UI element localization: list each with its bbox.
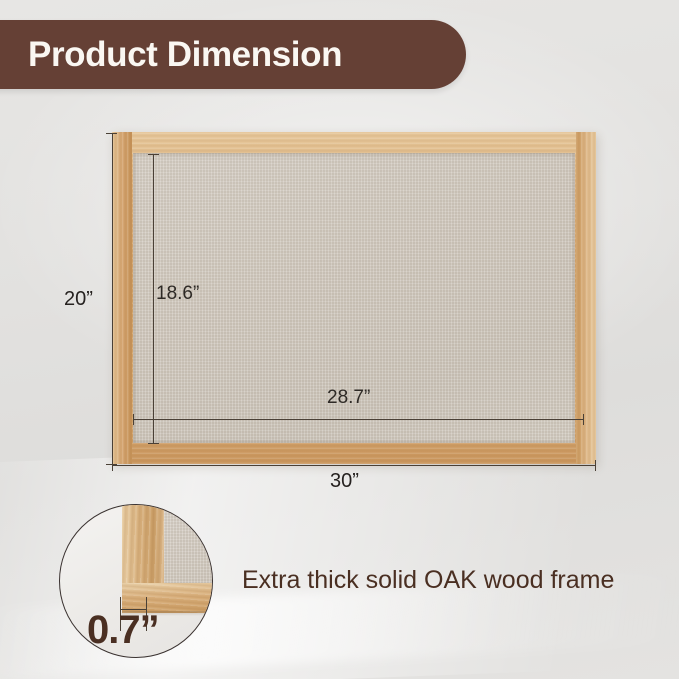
dimension-line-outer-height [112,133,113,465]
product-dimension-infographic: Product Dimension 20” 18.6” 28.7” 30” 0. [0,0,679,679]
magnified-linen-fabric [164,504,213,585]
frame-thickness-label: 0.7” [87,608,159,653]
dimension-tick-inner-width-left [133,414,134,425]
dimension-tick-outer-width-right [595,460,596,471]
frame-rail-left [112,132,132,464]
dimension-label-inner-width: 28.7” [327,387,370,409]
dimension-label-outer-width: 30” [330,470,359,493]
dimension-line-inner-width [133,419,583,420]
frame-rail-right [576,132,596,464]
dimension-line-outer-width [112,465,596,466]
dimension-tick-inner-height-top [148,154,159,155]
dimension-tick-inner-height-bottom [148,443,159,444]
dimension-line-inner-height [153,154,154,444]
dimension-tick-inner-width-right [583,414,584,425]
title-banner: Product Dimension [0,20,466,89]
dimension-tick-outer-width-left [112,460,113,471]
oak-frame-caption: Extra thick solid OAK wood frame [242,566,614,595]
dimension-tick-outer-height-top [106,133,117,134]
page-title: Product Dimension [28,35,342,75]
dimension-label-inner-height: 18.6” [156,283,199,305]
dimension-label-outer-height: 20” [64,288,93,311]
